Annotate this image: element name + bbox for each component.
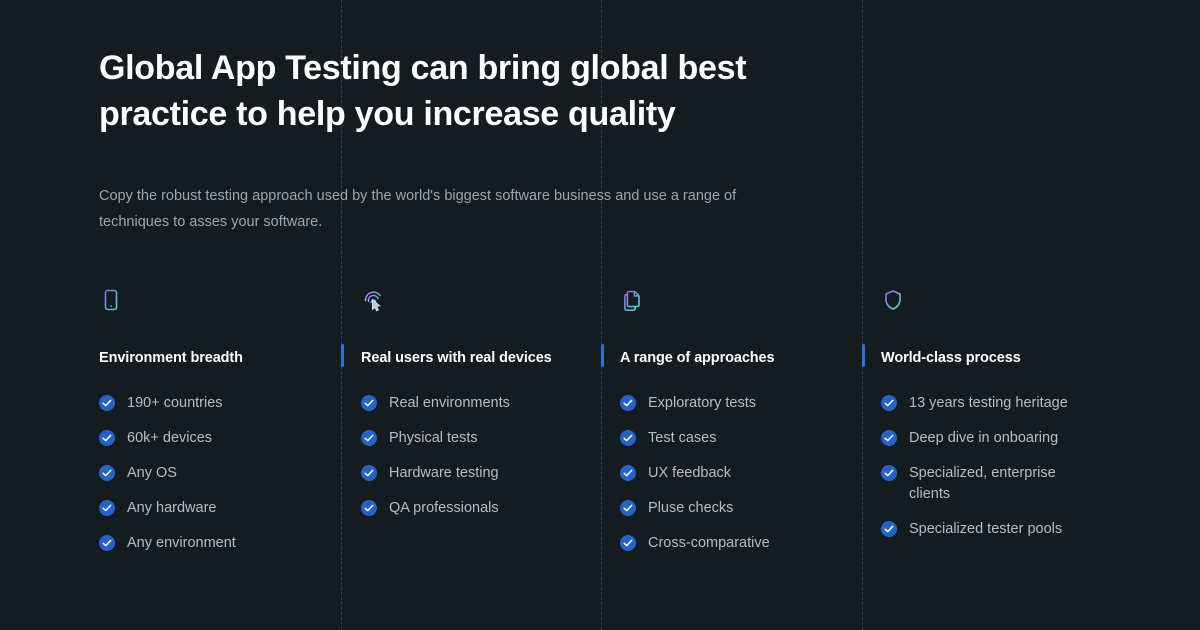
check-icon <box>361 465 377 481</box>
check-icon <box>99 395 115 411</box>
list-item: 190+ countries <box>99 393 341 414</box>
list-item: Pluse checks <box>620 498 862 519</box>
list-item: Test cases <box>620 428 862 449</box>
list-item-label: Test cases <box>648 428 717 449</box>
list-item: 60k+ devices <box>99 428 341 449</box>
list-item: Any OS <box>99 463 341 484</box>
feature-column-environment-breadth: Environment breadth 190+ countries 60k+ … <box>0 288 341 568</box>
check-icon <box>620 465 636 481</box>
feature-column-real-users: Real users with real devices Real enviro… <box>341 288 601 568</box>
list-item-label: 13 years testing heritage <box>909 393 1068 414</box>
check-icon <box>361 395 377 411</box>
column-heading: Real users with real devices <box>361 350 601 370</box>
list-item-label: Deep dive in onboaring <box>909 428 1058 449</box>
list-item: Specialized, enterprise clients <box>881 463 1200 505</box>
feature-columns: Environment breadth 190+ countries 60k+ … <box>0 288 1200 568</box>
feature-list: 190+ countries 60k+ devices Any OS Any h… <box>99 393 341 554</box>
list-item-label: Any OS <box>127 463 177 484</box>
list-item: Any environment <box>99 533 341 554</box>
column-heading: A range of approaches <box>620 350 862 370</box>
list-item-label: Physical tests <box>389 428 478 449</box>
list-item-label: UX feedback <box>648 463 731 484</box>
feature-list: Real environments Physical tests Hardwar… <box>361 393 601 519</box>
list-item-label: Hardware testing <box>389 463 499 484</box>
list-item: 13 years testing heritage <box>881 393 1200 414</box>
feature-grid-page: { "theme": { "background": "#141c20", "a… <box>0 0 1200 630</box>
list-item-label: Specialized, enterprise clients <box>909 463 1094 505</box>
list-item: QA professionals <box>361 498 601 519</box>
copy-documents-icon <box>620 288 644 314</box>
check-icon <box>361 430 377 446</box>
list-item: Exploratory tests <box>620 393 862 414</box>
check-icon <box>620 500 636 516</box>
list-item: Physical tests <box>361 428 601 449</box>
list-item-label: Pluse checks <box>648 498 733 519</box>
shield-icon <box>881 288 905 314</box>
list-item-label: 190+ countries <box>127 393 223 414</box>
column-heading: Environment breadth <box>99 350 341 370</box>
check-icon <box>99 465 115 481</box>
feature-list: 13 years testing heritage Deep dive in o… <box>881 393 1200 540</box>
check-icon <box>881 465 897 481</box>
list-item: Deep dive in onboaring <box>881 428 1200 449</box>
check-icon <box>620 395 636 411</box>
list-item-label: Specialized tester pools <box>909 519 1062 540</box>
list-item-label: 60k+ devices <box>127 428 212 449</box>
check-icon <box>620 430 636 446</box>
feature-column-approaches: A range of approaches Exploratory tests … <box>601 288 862 568</box>
list-item-label: Any hardware <box>127 498 216 519</box>
check-icon <box>361 500 377 516</box>
list-item: UX feedback <box>620 463 862 484</box>
list-item: Any hardware <box>99 498 341 519</box>
list-item: Specialized tester pools <box>881 519 1200 540</box>
check-icon <box>99 430 115 446</box>
check-icon <box>881 395 897 411</box>
list-item: Cross-comparative <box>620 533 862 554</box>
list-item-label: Real environments <box>389 393 510 414</box>
list-item-label: Any environment <box>127 533 236 554</box>
page-subtitle: Copy the robust testing approach used by… <box>99 183 799 235</box>
list-item: Real environments <box>361 393 601 414</box>
list-item-label: Exploratory tests <box>648 393 756 414</box>
feature-list: Exploratory tests Test cases UX feedback… <box>620 393 862 554</box>
mobile-phone-icon <box>99 288 123 314</box>
check-icon <box>99 500 115 516</box>
list-item: Hardware testing <box>361 463 601 484</box>
list-item-label: QA professionals <box>389 498 499 519</box>
check-icon <box>620 535 636 551</box>
feature-column-world-class-process: World-class process 13 years testing her… <box>862 288 1200 568</box>
page-headline: Global App Testing can bring global best… <box>99 45 799 137</box>
check-icon <box>881 430 897 446</box>
column-heading: World-class process <box>881 350 1200 370</box>
list-item-label: Cross-comparative <box>648 533 770 554</box>
cursor-tap-icon <box>361 288 385 314</box>
check-icon <box>99 535 115 551</box>
check-icon <box>881 521 897 537</box>
